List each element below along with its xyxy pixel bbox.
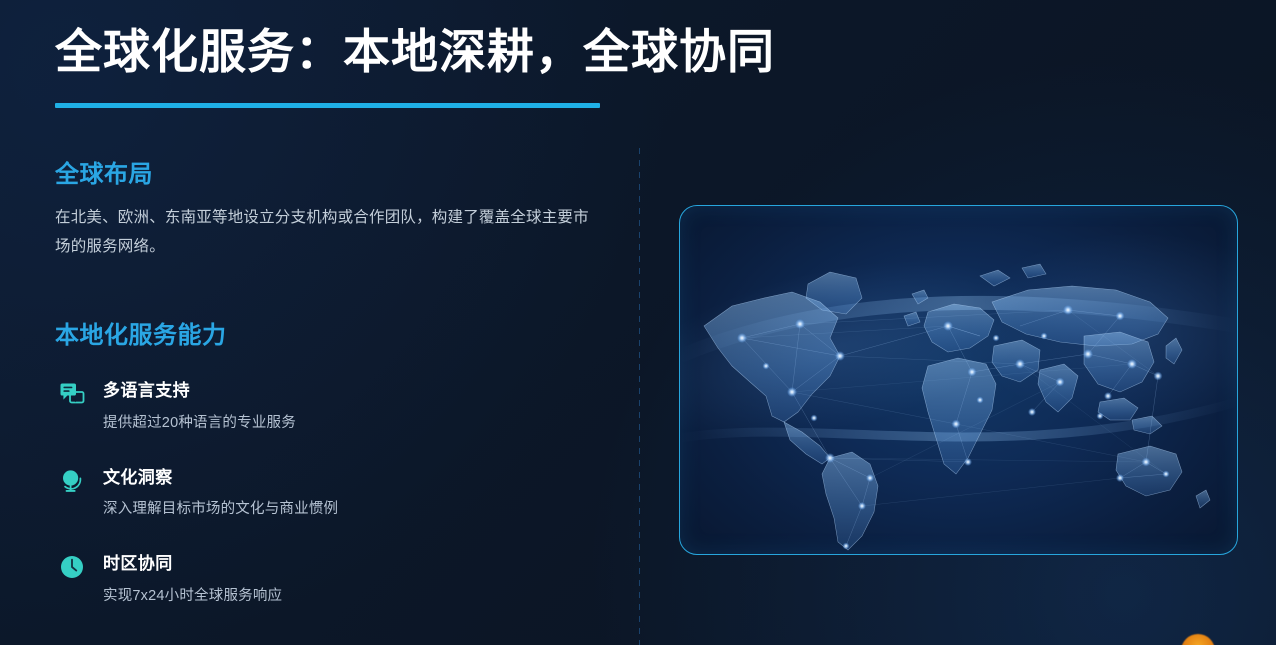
feature-description: 实现7x24小时全球服务响应	[103, 586, 610, 608]
section-heading-localization: 本地化服务能力	[55, 321, 610, 351]
left-content-column: 全球布局 在北美、欧洲、东南亚等地设立分支机构或合作团队，构建了覆盖全球主要市场…	[55, 160, 610, 608]
title-underline-rule	[55, 103, 600, 108]
title-block: 全球化服务：本地深耕，全球协同	[55, 24, 1155, 79]
feature-title: 多语言支持	[103, 379, 610, 404]
accent-orb	[1181, 634, 1215, 645]
column-divider	[639, 148, 640, 645]
section-body-global-layout: 在北美、欧洲、东南亚等地设立分支机构或合作团队，构建了覆盖全球主要市场的服务网络…	[55, 204, 595, 261]
clock-icon	[57, 552, 87, 582]
world-network-map-graphic	[680, 206, 1237, 554]
list-item: 多语言支持 提供超过20种语言的专业服务	[55, 379, 610, 434]
feature-description: 提供超过20种语言的专业服务	[103, 413, 610, 435]
world-network-map-panel	[679, 205, 1238, 555]
section-heading-global-layout: 全球布局	[55, 160, 610, 190]
slide-root: 全球化服务：本地深耕，全球协同 全球布局 在北美、欧洲、东南亚等地设立分支机构或…	[0, 0, 1276, 645]
list-item: 时区协同 实现7x24小时全球服务响应	[55, 552, 610, 607]
feature-title: 文化洞察	[103, 466, 610, 491]
chat-bubble-icon	[57, 379, 87, 409]
feature-list: 多语言支持 提供超过20种语言的专业服务 文化洞察 深入理解目标市场的文化与商业…	[55, 379, 610, 607]
page-title: 全球化服务：本地深耕，全球协同	[55, 24, 1155, 79]
feature-title: 时区协同	[103, 552, 610, 577]
feature-description: 深入理解目标市场的文化与商业惯例	[103, 499, 610, 521]
list-item: 文化洞察 深入理解目标市场的文化与商业惯例	[55, 466, 610, 521]
desk-globe-icon	[57, 466, 87, 496]
